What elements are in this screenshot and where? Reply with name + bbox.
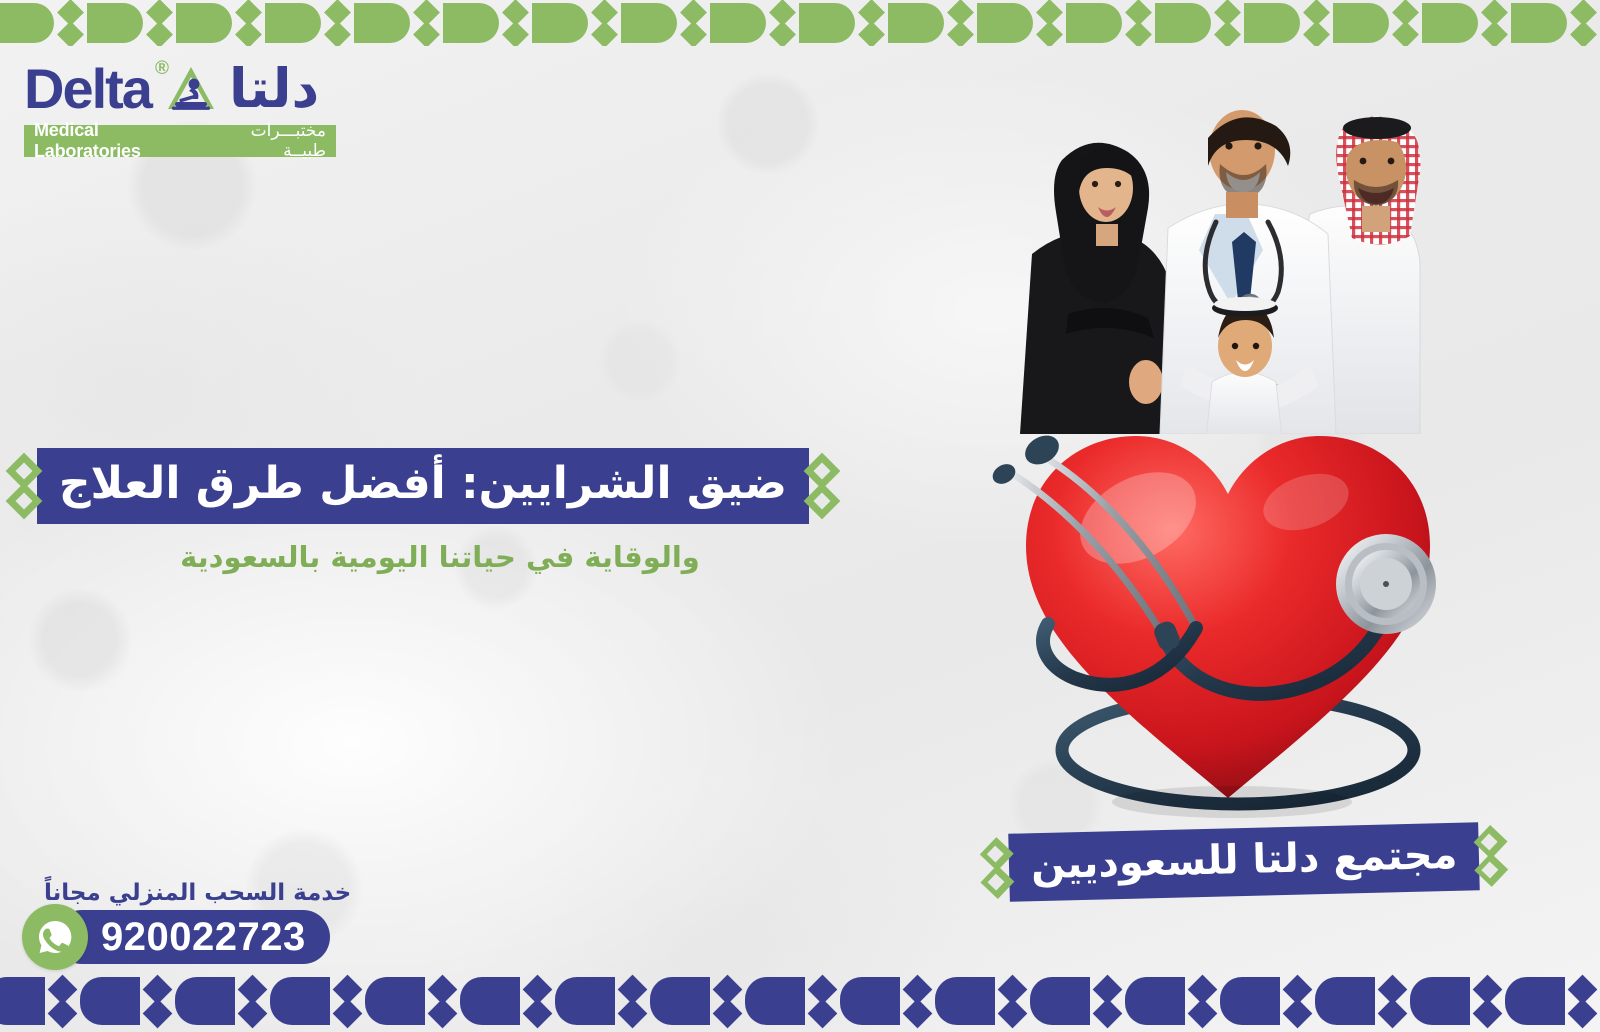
border-motif (1315, 977, 1410, 1025)
headline-subtitle: والوقاية في حياتنا اليومية بالسعودية (75, 540, 835, 574)
border-motif (650, 977, 745, 1025)
border-motif (935, 977, 1030, 1025)
diamond-accent-icon (1479, 830, 1504, 883)
border-motif (270, 977, 365, 1025)
bottom-decorative-border (0, 970, 1600, 1032)
diamond-accent-icon (11, 458, 37, 514)
contact-block: خدمة السحب المنزلي مجاناً 920022723 (22, 880, 351, 964)
border-motif (532, 3, 621, 44)
headline-title: ضيق الشرايين: أفضل طرق العلاج (37, 448, 809, 524)
headline-block: ضيق الشرايين: أفضل طرق العلاج والوقاية ف… (75, 448, 835, 574)
home-collection-service-label: خدمة السحب المنزلي مجاناً (22, 880, 351, 906)
border-motif (745, 977, 840, 1025)
border-motif (1505, 977, 1600, 1025)
headline-ribbon: ضيق الشرايين: أفضل طرق العلاج (75, 448, 835, 524)
logo-tagline-bar: Medical Laboratories مختبـــرات طبيــة (24, 125, 336, 157)
community-ribbon: مجتمع دلتا للسعوديين (984, 822, 1504, 903)
brand-logo: Delta ® دلتا Medical Laboratories (24, 58, 336, 157)
border-motif (1244, 3, 1333, 44)
border-motif (265, 3, 354, 44)
border-motif (443, 3, 532, 44)
border-motif (365, 977, 460, 1025)
border-motif (1155, 3, 1244, 44)
border-motif (710, 3, 799, 44)
border-motif (0, 3, 87, 44)
logo-tagline-arabic: مختبـــرات طبيــة (206, 121, 326, 161)
border-motif (1410, 977, 1505, 1025)
border-motif (1220, 977, 1315, 1025)
border-motif (1125, 977, 1220, 1025)
border-motif (80, 977, 175, 1025)
border-motif (977, 3, 1066, 44)
border-motif (555, 977, 650, 1025)
border-motif (176, 3, 265, 44)
logo-latin-name: Delta (24, 61, 151, 117)
border-motif (1030, 977, 1125, 1025)
border-motif (1066, 3, 1155, 44)
border-motif (0, 977, 80, 1025)
border-motif (621, 3, 710, 44)
red-heart-with-stethoscope-illustration (970, 378, 1490, 828)
top-decorative-border (0, 0, 1600, 46)
border-motif (888, 3, 977, 44)
border-motif (1511, 3, 1600, 44)
border-motif (354, 3, 443, 44)
logo-arabic-name: دلتا (229, 62, 319, 116)
microscope-delta-triangle-icon: ® (159, 60, 221, 118)
diamond-accent-icon (984, 842, 1009, 895)
border-motif (87, 3, 176, 44)
border-motif (1333, 3, 1422, 44)
border-motif (840, 977, 935, 1025)
phone-number[interactable]: 920022723 (55, 910, 330, 964)
border-motif (1422, 3, 1511, 44)
border-motif (799, 3, 888, 44)
banner-canvas: Delta ® دلتا Medical Laboratories (0, 0, 1600, 1032)
community-label: مجتمع دلتا للسعوديين (1008, 822, 1480, 901)
logo-tagline-latin: Medical Laboratories (34, 120, 206, 162)
diamond-accent-icon (809, 458, 835, 514)
border-motif (175, 977, 270, 1025)
border-motif (460, 977, 555, 1025)
whatsapp-icon[interactable] (22, 904, 88, 970)
